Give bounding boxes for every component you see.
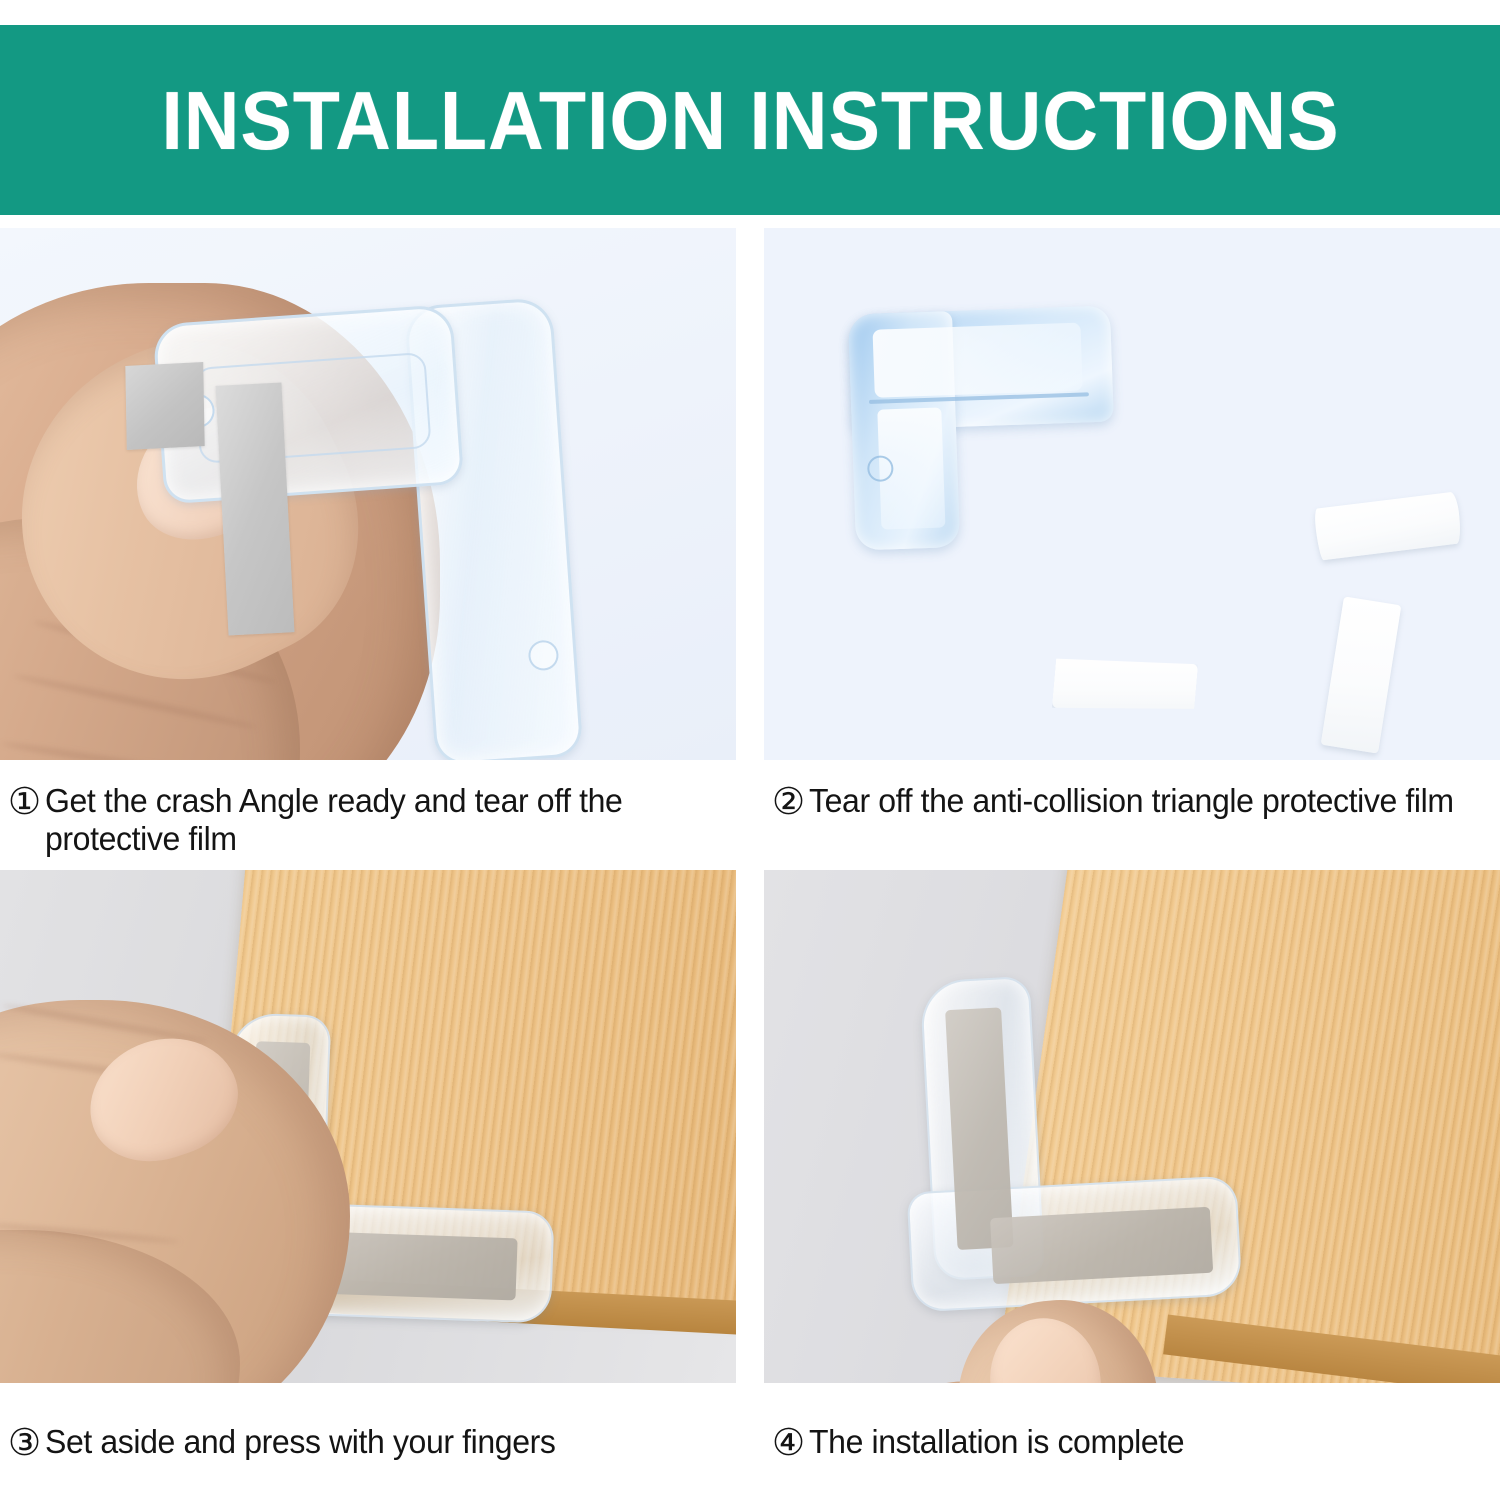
step-1-caption: ① Get the crash Angle ready and tear off… <box>0 760 736 859</box>
adhesive-tape-strip <box>990 1207 1213 1284</box>
step-4-caption-text: The installation is complete <box>809 1423 1474 1461</box>
page-title: INSTALLATION INSTRUCTIONS <box>161 79 1339 162</box>
step-4-number: ④ <box>772 1423 805 1462</box>
step-card-1: ① Get the crash Angle ready and tear off… <box>0 228 736 859</box>
step-4-caption: ④ The installation is complete <box>764 1383 1500 1462</box>
step-3-photo <box>0 870 736 1383</box>
step-1-number: ① <box>8 782 41 821</box>
adhesive-tape-strip <box>216 382 295 635</box>
guard-adhesive-patch <box>873 323 1083 398</box>
step-2-photo <box>764 228 1500 760</box>
clear-corner-guard <box>152 296 593 760</box>
peeled-protective-film <box>1313 491 1462 560</box>
peeled-protective-film <box>1321 596 1402 753</box>
installed-corner-guard <box>896 966 1243 1313</box>
step-4-photo <box>764 870 1500 1383</box>
blue-corner-guard <box>848 306 1118 551</box>
step-1-caption-text: Get the crash Angle ready and tear off t… <box>45 782 710 859</box>
adhesive-tape-strip <box>125 362 204 450</box>
step-1-photo <box>0 228 736 760</box>
step-card-4: ④ The installation is complete <box>764 870 1500 1462</box>
steps-grid: ① Get the crash Angle ready and tear off… <box>0 228 1500 1500</box>
header-banner: INSTALLATION INSTRUCTIONS <box>0 25 1500 215</box>
step-3-caption: ③ Set aside and press with your fingers <box>0 1383 736 1462</box>
step-3-caption-text: Set aside and press with your fingers <box>45 1423 710 1461</box>
step-3-number: ③ <box>8 1423 41 1462</box>
step-2-number: ② <box>772 782 805 821</box>
step-2-caption-text: Tear off the anti-collision triangle pro… <box>809 782 1474 820</box>
installation-instructions-page: INSTALLATION INSTRUCTIONS <box>0 0 1500 1500</box>
step-card-2: ② Tear off the anti-collision triangle p… <box>764 228 1500 821</box>
peeled-protective-film <box>1052 652 1198 720</box>
step-2-caption: ② Tear off the anti-collision triangle p… <box>764 760 1500 821</box>
step-card-3: ③ Set aside and press with your fingers <box>0 870 736 1462</box>
